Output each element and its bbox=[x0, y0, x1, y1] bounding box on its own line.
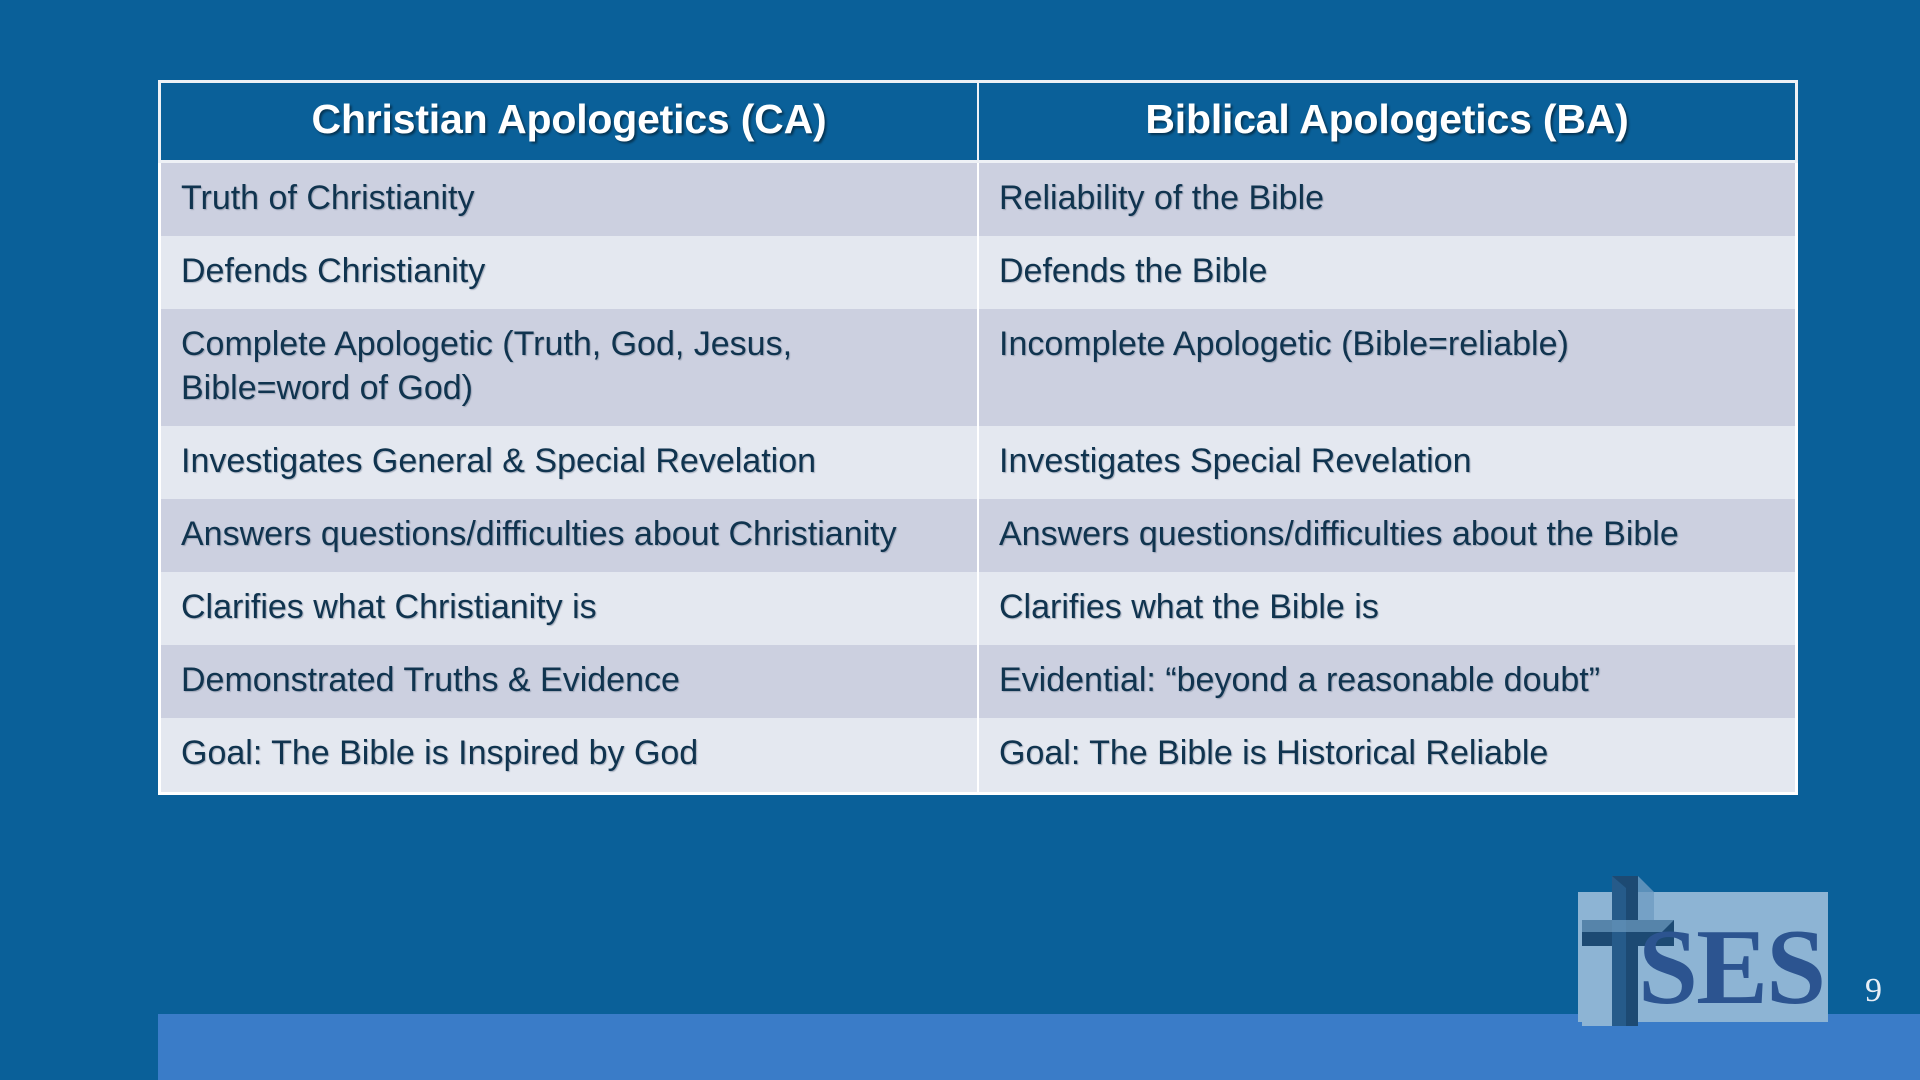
table-row: Clarifies what Christianity is Clarifies… bbox=[160, 572, 1797, 645]
cell-ca-7: Goal: The Bible is Inspired by God bbox=[160, 718, 979, 793]
table-row: Answers questions/difficulties about Chr… bbox=[160, 499, 1797, 572]
table-row: Defends Christianity Defends the Bible bbox=[160, 236, 1797, 309]
cell-ba-0: Reliability of the Bible bbox=[978, 162, 1797, 237]
table-head: Christian Apologetics (CA) Biblical Apol… bbox=[160, 82, 1797, 162]
table-row: Truth of Christianity Reliability of the… bbox=[160, 162, 1797, 237]
cell-ba-3: Investigates Special Revelation bbox=[978, 426, 1797, 499]
table-row: Complete Apologetic (Truth, God, Jesus, … bbox=[160, 309, 1797, 425]
comparison-table-container: Christian Apologetics (CA) Biblical Apol… bbox=[158, 80, 1798, 795]
table-header-row: Christian Apologetics (CA) Biblical Apol… bbox=[160, 82, 1797, 162]
cell-ba-6: Evidential: “beyond a reasonable doubt” bbox=[978, 645, 1797, 718]
cell-ca-3: Investigates General & Special Revelatio… bbox=[160, 426, 979, 499]
cell-ca-0: Truth of Christianity bbox=[160, 162, 979, 237]
column-header-biblical-apologetics: Biblical Apologetics (BA) bbox=[978, 82, 1797, 162]
cell-ba-4: Answers questions/difficulties about the… bbox=[978, 499, 1797, 572]
cell-ca-4: Answers questions/difficulties about Chr… bbox=[160, 499, 979, 572]
cell-ba-5: Clarifies what the Bible is bbox=[978, 572, 1797, 645]
cell-ba-7: Goal: The Bible is Historical Reliable bbox=[978, 718, 1797, 793]
table-body: Truth of Christianity Reliability of the… bbox=[160, 162, 1797, 794]
cell-ba-1: Defends the Bible bbox=[978, 236, 1797, 309]
column-header-christian-apologetics: Christian Apologetics (CA) bbox=[160, 82, 979, 162]
table-row: Goal: The Bible is Inspired by God Goal:… bbox=[160, 718, 1797, 793]
cell-ca-1: Defends Christianity bbox=[160, 236, 979, 309]
ses-logo: SES bbox=[1578, 892, 1828, 1022]
page-number: 9 bbox=[1865, 972, 1882, 1010]
slide-canvas: Christian Apologetics (CA) Biblical Apol… bbox=[0, 0, 1920, 1080]
ses-logo-text: SES bbox=[1638, 914, 1824, 1022]
table-row: Demonstrated Truths & Evidence Evidentia… bbox=[160, 645, 1797, 718]
comparison-table: Christian Apologetics (CA) Biblical Apol… bbox=[158, 80, 1798, 795]
cell-ca-5: Clarifies what Christianity is bbox=[160, 572, 979, 645]
table-row: Investigates General & Special Revelatio… bbox=[160, 426, 1797, 499]
cell-ba-2: Incomplete Apologetic (Bible=reliable) bbox=[978, 309, 1797, 425]
cell-ca-2: Complete Apologetic (Truth, God, Jesus, … bbox=[160, 309, 979, 425]
cell-ca-6: Demonstrated Truths & Evidence bbox=[160, 645, 979, 718]
